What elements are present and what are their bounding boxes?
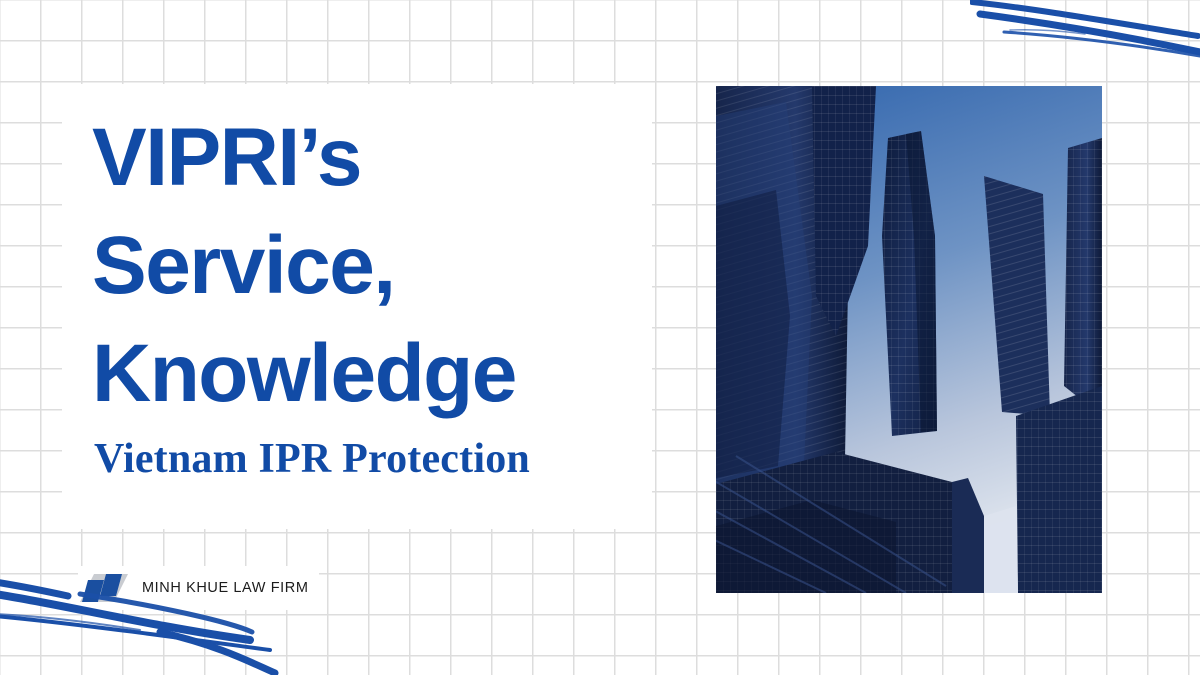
minh-khue-logo-icon — [80, 570, 128, 606]
skyline-illustration — [716, 86, 1102, 593]
slide-canvas: VIPRI’s Service, Knowledge Vietnam IPR P… — [0, 0, 1200, 675]
brand-lockup: MINH KHUE LAW FIRM — [78, 566, 319, 610]
page-subtitle: Vietnam IPR Protection — [94, 434, 654, 484]
page-title: VIPRI’s Service, Knowledge — [92, 104, 652, 428]
skyline-photo — [716, 86, 1102, 593]
brand-name-label: MINH KHUE LAW FIRM — [142, 580, 309, 596]
